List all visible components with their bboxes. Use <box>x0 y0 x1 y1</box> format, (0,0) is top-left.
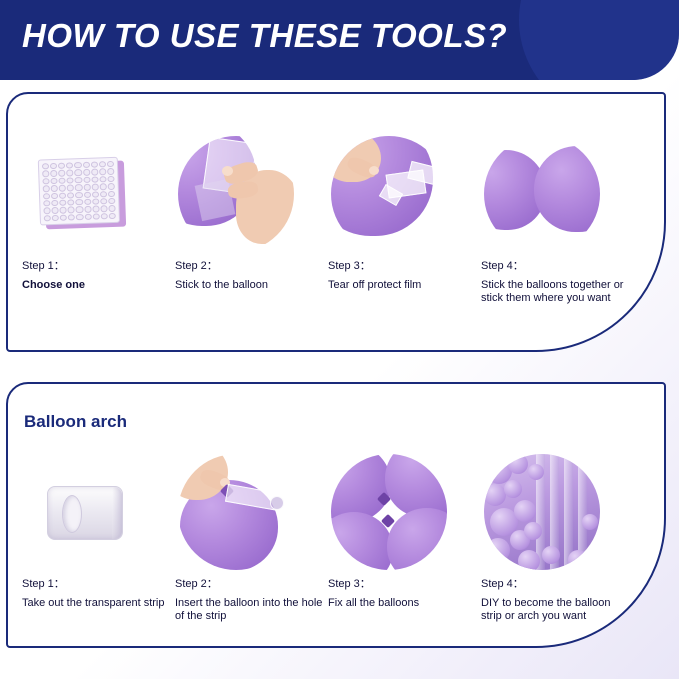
step-body: Stick to the balloon <box>175 279 325 292</box>
step-item-2-1: Step 1： Take out the transparent strip <box>22 454 172 610</box>
step-item-2-4: Step 4： DIY to become the balloon strip … <box>481 454 631 623</box>
instruction-page: HOW TO USE THESE TOOLS? <box>0 0 679 679</box>
step-head: Step 2： <box>175 578 325 591</box>
step-item-1-2: Step 2： Stick to the balloon <box>175 136 325 292</box>
hand-sticking-balloon-icon <box>178 136 294 252</box>
step-body: Take out the transparent strip <box>22 597 172 610</box>
step-head: Step 4： <box>481 260 631 273</box>
balloons-fixed-on-strip-icon <box>331 454 447 570</box>
hand-inserting-balloon-icon <box>178 454 294 570</box>
step-item-2-2: Step 2： Insert the balloon into the hole… <box>175 454 325 623</box>
step-caption-1-4: Step 4： Stick the balloons together or s… <box>481 260 631 305</box>
step-item-1-3: Step 3： Tear off protect film <box>328 136 478 292</box>
dot-glue-section: Step 1： Choose one Step 2： Stick t <box>6 92 666 352</box>
step-item-1-4: Step 4： Stick the balloons together or s… <box>481 136 631 305</box>
step-item-2-3: Step 3： Fix all the balloons <box>328 454 478 610</box>
step-caption-2-2: Step 2： Insert the balloon into the hole… <box>175 578 325 623</box>
step-head: Step 1： <box>22 260 172 273</box>
step-head: Step 3： <box>328 260 478 273</box>
step-caption-2-4: Step 4： DIY to become the balloon strip … <box>481 578 631 623</box>
step-body: Fix all the balloons <box>328 597 478 610</box>
step-head: Step 3： <box>328 578 478 591</box>
page-title: HOW TO USE THESE TOOLS? <box>22 14 507 58</box>
header-band: HOW TO USE THESE TOOLS? <box>0 0 679 80</box>
step-caption-1-3: Step 3： Tear off protect film <box>328 260 478 292</box>
step-caption-1-1: Step 1： Choose one <box>22 260 172 292</box>
step-body: Choose one <box>22 279 172 292</box>
step-item-1-1: Step 1： Choose one <box>22 136 172 292</box>
step-caption-1-2: Step 2： Stick to the balloon <box>175 260 325 292</box>
step-caption-2-3: Step 3： Fix all the balloons <box>328 578 478 610</box>
step-list-top: Step 1： Choose one Step 2： Stick t <box>8 94 664 350</box>
finished-balloon-arch-icon <box>484 454 600 570</box>
step-head: Step 1： <box>22 578 172 591</box>
step-caption-2-1: Step 1： Take out the transparent strip <box>22 578 172 610</box>
step-body: Tear off protect film <box>328 279 478 292</box>
balloon-arch-section: Balloon arch Step 1： Take out the transp… <box>6 382 666 648</box>
step-body: Insert the balloon into the hole of the … <box>175 597 325 623</box>
step-list-bottom: Step 1： Take out the transparent strip S… <box>8 384 664 646</box>
transparent-strip-roll-icon <box>25 454 141 570</box>
hand-peeling-film-icon <box>331 136 447 252</box>
step-head: Step 4： <box>481 578 631 591</box>
step-body: DIY to become the balloon strip or arch … <box>481 597 631 623</box>
step-head: Step 2： <box>175 260 325 273</box>
two-balloons-joined-icon <box>484 136 600 252</box>
sticker-sheet-icon <box>25 136 141 252</box>
step-body: Stick the balloons together or stick the… <box>481 279 631 305</box>
